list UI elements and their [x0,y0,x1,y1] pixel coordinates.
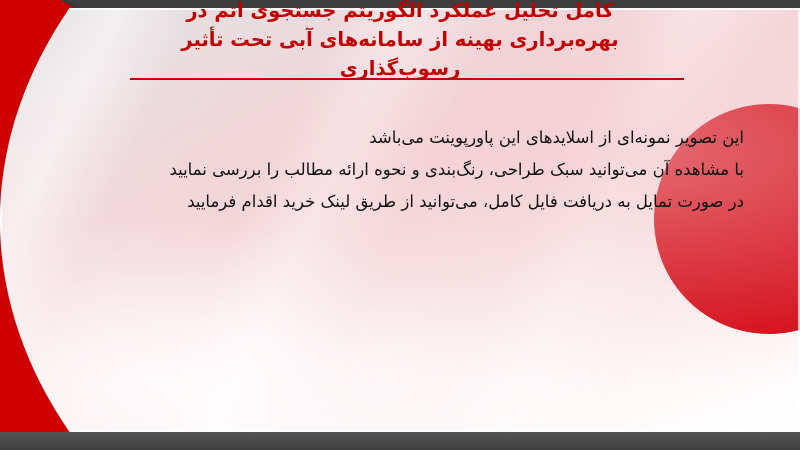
page-title: کامل تحلیل عملکرد الگوریتم جستجوی اتم در… [0,0,800,83]
slide-canvas: کامل تحلیل عملکرد الگوریتم جستجوی اتم در… [0,0,800,450]
body-line-2: با مشاهده آن می‌توانید سبک طراحی، رنگ‌بن… [104,154,744,186]
slide-body-block: این تصویر نمونه‌ای از اسلایدهای این پاور… [104,122,744,218]
body-line-3: در صورت تمایل به دریافت فایل کامل، می‌تو… [104,186,744,218]
title-line-1: کامل تحلیل عملکرد الگوریتم جستجوی اتم در [90,0,710,25]
slide-title-block: کامل تحلیل عملکرد الگوریتم جستجوی اتم در… [0,0,800,83]
title-line-2: بهره‌برداری بهینه از سامانه‌های آبی تحت … [90,25,710,54]
bottom-bevel-strip [0,432,800,450]
body-line-1: این تصویر نمونه‌ای از اسلایدهای این پاور… [104,122,744,154]
title-line-3: رسوب‌گذاری [90,54,710,83]
